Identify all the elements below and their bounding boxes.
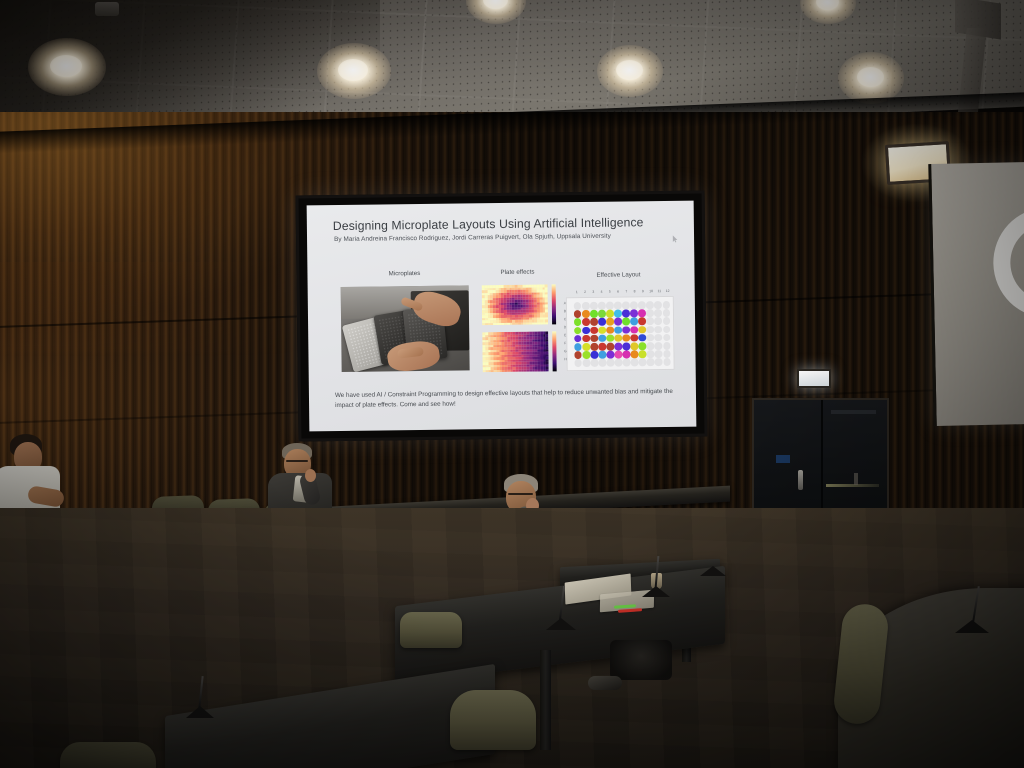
plate-col-label-11: 11 [655, 289, 663, 295]
plate-well-F3 [590, 343, 598, 351]
heatmap-plate-effect-radial [482, 284, 548, 325]
microplates-photo [341, 285, 470, 372]
caption-effective-layout: Effective Layout [561, 271, 675, 279]
plate-well-C7 [622, 318, 630, 326]
plate-well-F12 [663, 342, 671, 350]
door-push-bar[interactable] [826, 484, 879, 487]
ceiling-sprinkler [95, 2, 119, 16]
plate-well-A2 [582, 302, 590, 310]
caption-plate-effects: Plate effects [480, 268, 554, 276]
plate-well-B12 [662, 309, 670, 317]
plate-well-H3 [591, 359, 599, 367]
door-strike-plate [854, 473, 858, 485]
plate-well-C4 [598, 318, 606, 326]
plate-well-A11 [654, 301, 662, 309]
glasses [286, 460, 308, 462]
plate-well-B2 [582, 310, 590, 318]
main-projection-screen: Designing Microplate Layouts Using Artif… [296, 191, 708, 442]
plate-well-B10 [646, 309, 654, 317]
plate-well-D5 [606, 326, 614, 334]
heatmap-cell [545, 322, 548, 325]
hand [305, 469, 316, 482]
chair-foreground-2[interactable] [450, 690, 536, 750]
plate-well-G1 [574, 351, 582, 359]
plate-well-D7 [622, 326, 630, 334]
plate-well-G11 [655, 350, 663, 358]
plate-well-A4 [598, 302, 606, 310]
slide-body-text: We have used AI / Constraint Programming… [335, 387, 678, 411]
plate-well-D3 [590, 326, 598, 334]
plate-col-label-10: 10 [647, 289, 655, 295]
illuminated-wall-sign [797, 369, 831, 388]
plate-well-H12 [663, 358, 671, 366]
plate-well-F10 [647, 342, 655, 350]
slide-authors: By Maria Andreina Francisco Rodriguez, J… [334, 232, 686, 243]
plate-well-G5 [607, 351, 615, 359]
plate-well-B8 [630, 310, 638, 318]
plate-well-B5 [606, 310, 614, 318]
plate-well-F9 [639, 342, 647, 350]
plate-well-E4 [598, 335, 606, 343]
screen-glyph-c [992, 207, 1024, 319]
plate-well-B4 [598, 310, 606, 318]
plate-well-C5 [606, 318, 614, 326]
plate-well-E7 [623, 334, 631, 342]
plate-well-D9 [639, 326, 647, 334]
plate-well-G12 [663, 350, 671, 358]
plate-col-label-7: 7 [622, 289, 630, 295]
plate-well-H9 [639, 359, 647, 367]
plate-col-label-6: 6 [614, 290, 622, 296]
heatmap-cell [546, 369, 549, 372]
plate-well-D8 [630, 326, 638, 334]
plate-well-H5 [607, 359, 615, 367]
plate-well-D10 [647, 326, 655, 334]
door-sign [776, 455, 790, 463]
heatmap-plate-effect-gradient [482, 331, 548, 372]
plate-well-E1 [574, 335, 582, 343]
plate-well-C10 [646, 318, 654, 326]
chair-foreground-4[interactable] [60, 742, 156, 768]
plate-well-C6 [614, 318, 622, 326]
office-chair-wheels [610, 640, 672, 680]
plate-well-C11 [655, 317, 663, 325]
plate-well-C1 [574, 318, 582, 326]
plate-well-B11 [654, 309, 662, 317]
plate-well-C3 [590, 318, 598, 326]
plate-well-G6 [615, 351, 623, 359]
plate-well-E9 [639, 334, 647, 342]
plate-well-E3 [590, 335, 598, 343]
lecture-hall-photo: Designing Microplate Layouts Using Artif… [0, 0, 1024, 768]
slide-title: Designing Microplate Layouts Using Artif… [333, 215, 684, 233]
plate-well-F5 [607, 343, 615, 351]
plate-well-B3 [590, 310, 598, 318]
plate-well-B6 [614, 310, 622, 318]
plate-col-label-5: 5 [606, 290, 614, 296]
ceiling-light-3 [597, 45, 663, 97]
plate-well-D4 [598, 326, 606, 334]
plate-well-F1 [574, 343, 582, 351]
colorbar-1 [552, 284, 556, 324]
plate-col-label-9: 9 [639, 289, 647, 295]
plate-well-G10 [647, 350, 655, 358]
plate-well-E11 [655, 334, 663, 342]
plate-well-A6 [614, 302, 622, 310]
plate-well-B7 [622, 310, 630, 318]
plate-well-B1 [574, 310, 582, 318]
presentation-slide: Designing Microplate Layouts Using Artif… [307, 201, 697, 432]
plate-well-E6 [614, 334, 622, 342]
plate-well-D1 [574, 327, 582, 335]
plate-col-label-8: 8 [630, 289, 638, 295]
mouse-cursor-icon [672, 235, 678, 243]
plate-well-D6 [614, 326, 622, 334]
plate-well-F6 [615, 343, 623, 351]
plate-well-E10 [647, 334, 655, 342]
plate-well-G3 [591, 351, 599, 359]
plate-well-C9 [638, 318, 646, 326]
plate-well-H1 [575, 359, 583, 367]
plate-col-label-4: 4 [597, 290, 605, 296]
plate-well-G4 [599, 351, 607, 359]
plate-well-G2 [582, 351, 590, 359]
plate-well-C12 [663, 317, 671, 325]
plate-well-E12 [663, 334, 671, 342]
plate-column-labels: 123456789101112 [573, 289, 672, 296]
plate-well-G9 [639, 350, 647, 358]
chair-foreground-1[interactable] [400, 612, 462, 648]
plate-well-F11 [655, 342, 663, 350]
plate-well-F2 [582, 343, 590, 351]
colorbar-2 [552, 331, 556, 371]
table-leg-main [540, 650, 551, 750]
plate-well-E8 [631, 334, 639, 342]
plate-well-D11 [655, 326, 663, 334]
plate-col-label-2: 2 [581, 290, 589, 296]
plate-well-A9 [638, 301, 646, 309]
ceiling-light-4 [838, 52, 904, 104]
plate-well-G7 [623, 351, 631, 359]
plate-well-A5 [606, 302, 614, 310]
plate-well-H2 [583, 359, 591, 367]
plate-col-label-3: 3 [589, 290, 597, 296]
secondary-projection-screen [928, 162, 1024, 426]
plate-well-A10 [646, 301, 654, 309]
plate-col-label-12: 12 [663, 289, 671, 295]
plate-well-D12 [663, 326, 671, 334]
plate-well-C2 [582, 318, 590, 326]
plate-well-E2 [582, 335, 590, 343]
door-top-panel [831, 410, 876, 414]
door-handle[interactable] [798, 470, 803, 490]
plate-well-A1 [574, 302, 582, 310]
plate-well-A8 [630, 301, 638, 309]
plate-well-H7 [623, 359, 631, 367]
plate-well-H6 [615, 359, 623, 367]
plate-well-D2 [582, 327, 590, 335]
plate-well-H10 [647, 359, 655, 367]
plate-well-F7 [623, 342, 631, 350]
plate-well-A3 [590, 302, 598, 310]
plate-well-F8 [631, 342, 639, 350]
plate-well-A7 [622, 301, 630, 309]
plate-well-C8 [630, 318, 638, 326]
plate-well-H4 [599, 359, 607, 367]
effective-layout-plate [566, 296, 675, 371]
plate-well-A12 [662, 301, 670, 309]
plate-well-F4 [598, 343, 606, 351]
plate-well-G8 [631, 351, 639, 359]
ceiling-light-1 [28, 38, 106, 96]
ceiling-light-2 [317, 43, 391, 99]
shoe [588, 676, 622, 690]
plate-well-H8 [631, 359, 639, 367]
plate-col-label-1: 1 [573, 290, 581, 296]
plate-well-H11 [655, 358, 663, 366]
plate-well-E5 [606, 334, 614, 342]
plate-well-B9 [638, 309, 646, 317]
caption-microplates: Microplates [340, 269, 468, 278]
